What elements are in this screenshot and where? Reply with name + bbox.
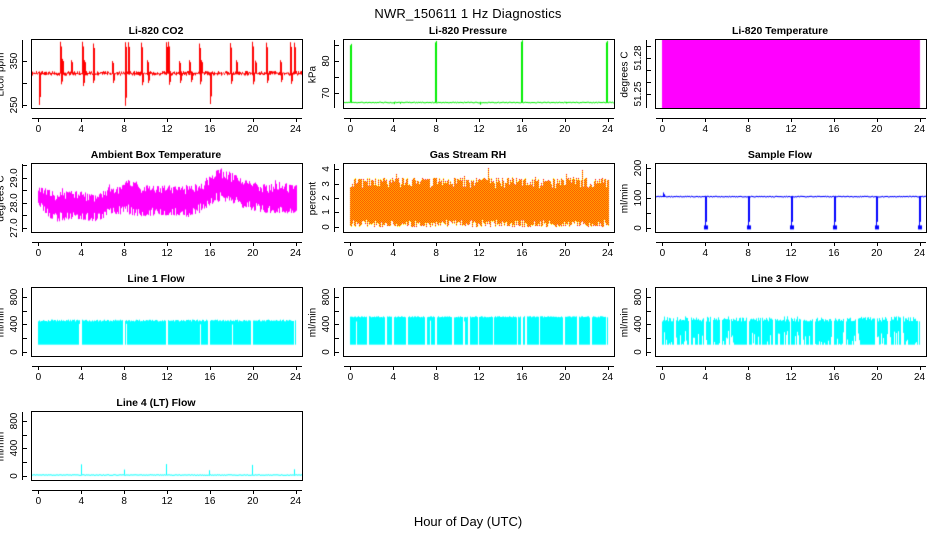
- x-tick: [608, 118, 609, 122]
- y-tick: [646, 198, 651, 199]
- y-tick-label: 29.0: [8, 158, 22, 198]
- series-canvas: [656, 288, 926, 356]
- x-tick-label: 24: [594, 372, 622, 383]
- x-tick-label: 12: [777, 124, 805, 135]
- x-tick-label: 20: [863, 124, 891, 135]
- x-tick-label: 12: [153, 372, 181, 383]
- y-tick-label: 350: [8, 41, 22, 81]
- y-tick: [334, 169, 339, 170]
- panel-li-820-pressure: Li-820 Pressure048121620247080kPa: [312, 25, 624, 149]
- series-canvas: [656, 40, 926, 108]
- y-tick: [646, 352, 651, 353]
- x-tick-label: 20: [239, 372, 267, 383]
- x-tick-label: 8: [734, 248, 762, 259]
- x-tick: [565, 118, 566, 122]
- x-tick-label: 4: [379, 372, 407, 383]
- plot-area: [343, 163, 615, 233]
- y-tick-label: 800: [8, 401, 22, 441]
- y-tick: [22, 83, 27, 84]
- y-tick: [334, 61, 339, 62]
- x-tick-label: 24: [282, 124, 310, 135]
- x-tick-label: 4: [67, 372, 95, 383]
- panel-title: Gas Stream RH: [312, 149, 624, 161]
- y-tick-label: 800: [320, 277, 334, 317]
- x-tick: [662, 118, 663, 122]
- x-tick: [705, 242, 706, 246]
- x-tick: [350, 366, 351, 370]
- y-tick: [646, 46, 651, 47]
- figure-title: NWR_150611 1 Hz Diagnostics: [0, 6, 936, 21]
- y-axis-label: ml/min: [0, 278, 8, 368]
- panel-title: Line 2 Flow: [312, 273, 624, 285]
- y-tick: [646, 70, 651, 71]
- x-tick-label: 20: [551, 124, 579, 135]
- y-tick: [22, 228, 27, 229]
- x-tick-label: 20: [239, 496, 267, 507]
- x-tick-label: 16: [508, 248, 536, 259]
- x-tick-label: 0: [24, 248, 52, 259]
- y-tick: [334, 198, 339, 199]
- x-tick: [296, 242, 297, 246]
- x-tick: [253, 118, 254, 122]
- y-tick-label: 800: [632, 277, 646, 317]
- x-tick: [350, 242, 351, 246]
- x-tick: [705, 366, 706, 370]
- x-tick: [920, 118, 921, 122]
- figure-root: NWR_150611 1 Hz Diagnostics Li-820 CO204…: [0, 0, 936, 540]
- panel-title: Line 3 Flow: [624, 273, 936, 285]
- x-tick: [124, 366, 125, 370]
- x-tick-label: 0: [648, 372, 676, 383]
- y-axis-label: kPa: [307, 30, 320, 120]
- y-tick-label: 4: [320, 149, 334, 189]
- y-tick: [334, 212, 339, 213]
- x-tick-label: 20: [551, 248, 579, 259]
- x-tick-label: 0: [24, 124, 52, 135]
- y-tick: [22, 61, 27, 62]
- x-tick-label: 4: [67, 124, 95, 135]
- x-tick: [748, 366, 749, 370]
- x-tick: [522, 242, 523, 246]
- x-tick-label: 16: [508, 372, 536, 383]
- y-tick: [22, 448, 27, 449]
- x-tick-label: 20: [863, 248, 891, 259]
- panel-gas-stream-rh: Gas Stream RH0481216202401234percent: [312, 149, 624, 273]
- y-axis-label: ml/min: [619, 154, 632, 244]
- y-tick-label: 51.28: [632, 38, 646, 78]
- y-tick: [646, 82, 651, 83]
- x-tick-label: 12: [465, 372, 493, 383]
- series-canvas: [32, 164, 302, 232]
- panel-title: Li-820 Pressure: [312, 25, 624, 37]
- y-axis-label: ml/min: [307, 278, 320, 368]
- x-tick: [296, 490, 297, 494]
- x-tick-label: 20: [863, 372, 891, 383]
- x-tick: [38, 242, 39, 246]
- x-tick-label: 8: [110, 248, 138, 259]
- x-tick-label: 20: [551, 372, 579, 383]
- series-canvas: [344, 164, 614, 232]
- y-tick-label: 80: [320, 41, 334, 81]
- x-tick-label: 8: [110, 372, 138, 383]
- x-tick-label: 24: [906, 248, 934, 259]
- x-tick: [210, 490, 211, 494]
- series-canvas: [32, 412, 302, 480]
- y-tick: [22, 190, 27, 191]
- x-tick: [662, 366, 663, 370]
- plot-area: [655, 39, 927, 109]
- y-tick: [22, 297, 27, 298]
- y-axis-label: degrees C: [619, 30, 632, 120]
- x-tick-label: 24: [906, 124, 934, 135]
- x-tick: [393, 366, 394, 370]
- panel-line-3-flow: Line 3 Flow048121620240400800ml/min: [624, 273, 936, 397]
- x-tick: [393, 242, 394, 246]
- x-tick-label: 12: [777, 248, 805, 259]
- x-tick-label: 4: [67, 248, 95, 259]
- panel-sample-flow: Sample Flow048121620240100200ml/min: [624, 149, 936, 273]
- x-tick-label: 16: [196, 372, 224, 383]
- x-tick: [920, 242, 921, 246]
- x-tick-label: 8: [422, 124, 450, 135]
- x-tick-label: 4: [379, 124, 407, 135]
- y-tick: [646, 94, 651, 95]
- x-tick-label: 12: [465, 248, 493, 259]
- x-tick: [920, 366, 921, 370]
- y-tick-label: 51.25: [632, 74, 646, 114]
- y-tick: [22, 476, 27, 477]
- panel-li-820-temperature: Li-820 Temperature0481216202451.2551.28d…: [624, 25, 936, 149]
- x-tick: [167, 118, 168, 122]
- x-tick: [253, 490, 254, 494]
- x-tick-label: 0: [336, 124, 364, 135]
- y-tick-label: 250: [8, 85, 22, 125]
- x-tick: [296, 366, 297, 370]
- y-tick: [334, 352, 339, 353]
- panel-title: Ambient Box Temperature: [0, 149, 312, 161]
- y-tick: [22, 311, 27, 312]
- y-tick: [646, 58, 651, 59]
- y-tick: [646, 311, 651, 312]
- x-tick: [167, 366, 168, 370]
- x-tick: [522, 366, 523, 370]
- y-axis-line: [646, 288, 647, 356]
- y-tick: [22, 338, 27, 339]
- y-axis-label: ml/min: [619, 278, 632, 368]
- y-tick: [646, 168, 651, 169]
- x-tick-label: 4: [691, 372, 719, 383]
- x-tick-label: 16: [820, 248, 848, 259]
- x-tick: [210, 366, 211, 370]
- y-tick: [646, 338, 651, 339]
- x-tick-label: 8: [422, 372, 450, 383]
- series-canvas: [344, 288, 614, 356]
- x-tick: [38, 490, 39, 494]
- y-tick: [646, 183, 651, 184]
- y-tick: [646, 297, 651, 298]
- y-tick: [22, 178, 27, 179]
- x-tick: [81, 118, 82, 122]
- x-tick: [522, 118, 523, 122]
- panel-title: Line 1 Flow: [0, 273, 312, 285]
- y-axis-line: [646, 40, 647, 108]
- x-tick: [81, 242, 82, 246]
- x-tick: [791, 366, 792, 370]
- x-tick: [350, 118, 351, 122]
- y-tick: [334, 93, 339, 94]
- x-tick: [436, 242, 437, 246]
- x-tick-label: 0: [24, 496, 52, 507]
- x-tick-label: 24: [594, 248, 622, 259]
- x-tick-label: 20: [239, 248, 267, 259]
- y-tick: [22, 352, 27, 353]
- y-axis-line: [334, 40, 335, 108]
- y-tick: [22, 165, 27, 166]
- x-tick-label: 4: [67, 496, 95, 507]
- x-tick: [38, 366, 39, 370]
- x-tick-label: 4: [691, 248, 719, 259]
- x-tick: [81, 366, 82, 370]
- plot-area: [655, 287, 927, 357]
- plot-area: [31, 39, 303, 109]
- x-tick-label: 16: [196, 124, 224, 135]
- x-tick-label: 24: [282, 372, 310, 383]
- x-tick: [210, 242, 211, 246]
- plot-area: [31, 163, 303, 233]
- x-tick-label: 12: [153, 248, 181, 259]
- panel-ambient-box-temperature: Ambient Box Temperature0481216202427.028…: [0, 149, 312, 273]
- y-axis-line: [22, 164, 23, 232]
- plot-area: [655, 163, 927, 233]
- y-axis-label: percent: [307, 154, 320, 244]
- y-axis-line: [334, 288, 335, 356]
- x-tick-label: 16: [508, 124, 536, 135]
- y-tick: [646, 228, 651, 229]
- x-tick: [167, 490, 168, 494]
- x-tick-label: 20: [239, 124, 267, 135]
- plot-area: [31, 411, 303, 481]
- y-axis-line: [22, 40, 23, 108]
- x-tick-label: 0: [24, 372, 52, 383]
- x-tick-label: 0: [648, 124, 676, 135]
- x-tick-label: 16: [820, 124, 848, 135]
- y-tick: [334, 297, 339, 298]
- x-tick-label: 4: [379, 248, 407, 259]
- x-tick: [81, 490, 82, 494]
- panel-title: Sample Flow: [624, 149, 936, 161]
- x-tick: [834, 242, 835, 246]
- y-tick: [22, 215, 27, 216]
- x-tick-label: 4: [691, 124, 719, 135]
- y-tick: [22, 203, 27, 204]
- panel-li-820-co2: Li-820 CO204812162024250350Licor ppm: [0, 25, 312, 149]
- x-tick-label: 12: [153, 124, 181, 135]
- x-tick-label: 0: [648, 248, 676, 259]
- series-canvas: [344, 40, 614, 108]
- panel-line-1-flow: Line 1 Flow048121620240400800ml/min: [0, 273, 312, 397]
- x-tick: [565, 242, 566, 246]
- panel-line-2-flow: Line 2 Flow048121620240400800ml/min: [312, 273, 624, 397]
- y-axis-line: [22, 288, 23, 356]
- panel-line-4-lt-flow: Line 4 (LT) Flow048121620240400800ml/min: [0, 397, 312, 521]
- y-tick: [646, 324, 651, 325]
- y-tick: [334, 45, 339, 46]
- y-tick: [334, 338, 339, 339]
- figure-xlabel: Hour of Day (UTC): [0, 514, 936, 529]
- y-axis-label: degrees C: [0, 154, 8, 244]
- x-tick: [877, 242, 878, 246]
- y-axis-label: Licor ppm: [0, 30, 8, 120]
- x-tick: [748, 242, 749, 246]
- x-tick: [877, 366, 878, 370]
- x-tick-label: 8: [110, 496, 138, 507]
- x-tick-label: 8: [734, 124, 762, 135]
- series-canvas: [32, 40, 302, 108]
- x-tick: [253, 366, 254, 370]
- panel-title: Li-820 Temperature: [624, 25, 936, 37]
- y-tick: [334, 77, 339, 78]
- x-tick: [296, 118, 297, 122]
- x-tick: [393, 118, 394, 122]
- y-tick: [646, 213, 651, 214]
- series-canvas: [32, 288, 302, 356]
- x-tick: [167, 242, 168, 246]
- y-tick-label: 200: [632, 148, 646, 188]
- x-tick-label: 24: [282, 248, 310, 259]
- x-tick: [479, 242, 480, 246]
- x-tick-label: 16: [820, 372, 848, 383]
- x-tick: [608, 242, 609, 246]
- x-tick-label: 24: [906, 372, 934, 383]
- y-tick: [22, 324, 27, 325]
- x-tick: [834, 118, 835, 122]
- x-tick: [436, 366, 437, 370]
- y-tick: [22, 421, 27, 422]
- x-tick: [210, 118, 211, 122]
- x-tick-label: 24: [282, 496, 310, 507]
- panel-title: Line 4 (LT) Flow: [0, 397, 312, 409]
- y-tick: [22, 435, 27, 436]
- x-tick-label: 8: [110, 124, 138, 135]
- x-tick: [565, 366, 566, 370]
- x-tick: [436, 118, 437, 122]
- y-tick: [22, 105, 27, 106]
- x-tick-label: 8: [734, 372, 762, 383]
- x-tick-label: 12: [465, 124, 493, 135]
- y-axis-label: ml/min: [0, 402, 8, 492]
- x-tick: [479, 118, 480, 122]
- plot-area: [343, 287, 615, 357]
- panel-title: Li-820 CO2: [0, 25, 312, 37]
- x-tick-label: 0: [336, 372, 364, 383]
- x-tick: [124, 118, 125, 122]
- y-axis-line: [22, 412, 23, 480]
- x-tick: [834, 366, 835, 370]
- x-tick-label: 12: [777, 372, 805, 383]
- x-tick: [38, 118, 39, 122]
- y-tick: [22, 462, 27, 463]
- plot-area: [31, 287, 303, 357]
- x-tick: [124, 242, 125, 246]
- x-tick: [877, 118, 878, 122]
- x-tick-label: 8: [422, 248, 450, 259]
- plot-area: [343, 39, 615, 109]
- x-tick-label: 12: [153, 496, 181, 507]
- x-tick-label: 0: [336, 248, 364, 259]
- x-tick-label: 24: [594, 124, 622, 135]
- x-tick: [791, 242, 792, 246]
- x-tick-label: 16: [196, 496, 224, 507]
- x-tick-label: 16: [196, 248, 224, 259]
- x-tick: [705, 118, 706, 122]
- x-tick: [479, 366, 480, 370]
- x-tick: [253, 242, 254, 246]
- x-tick: [608, 366, 609, 370]
- y-tick: [334, 324, 339, 325]
- y-tick: [334, 227, 339, 228]
- y-tick-label: 800: [8, 277, 22, 317]
- y-tick: [334, 311, 339, 312]
- x-tick: [791, 118, 792, 122]
- series-canvas: [656, 164, 926, 232]
- x-tick: [748, 118, 749, 122]
- x-tick: [124, 490, 125, 494]
- y-tick: [334, 184, 339, 185]
- x-tick: [662, 242, 663, 246]
